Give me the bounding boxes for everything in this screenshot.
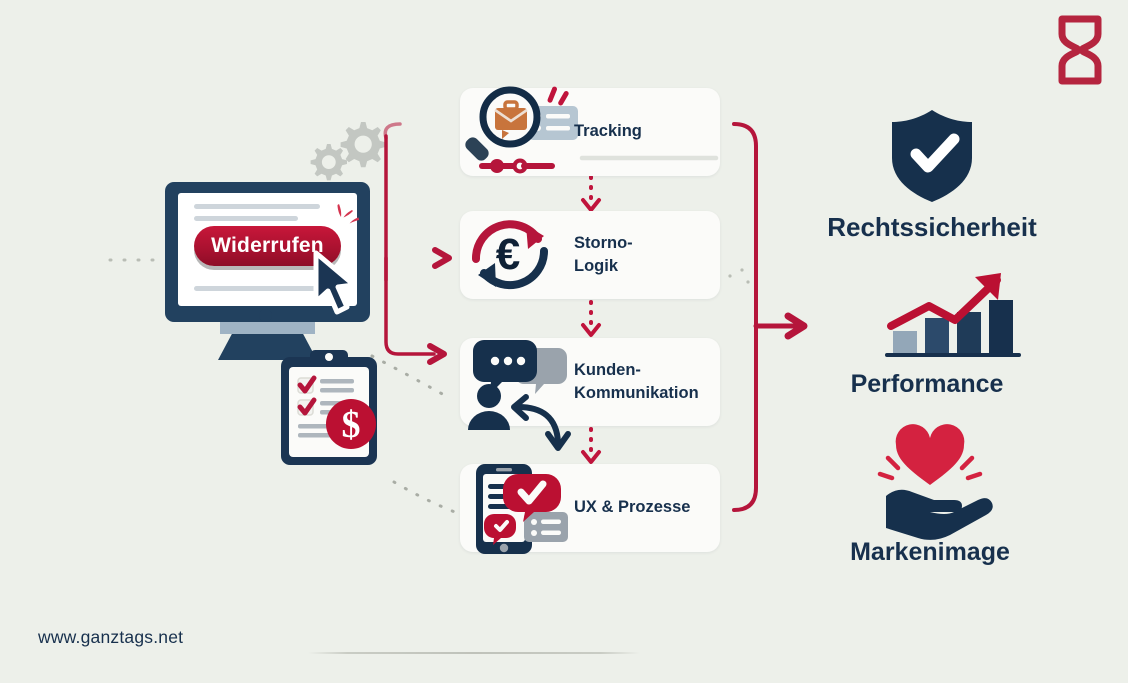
hourglass-logo bbox=[1052, 14, 1108, 86]
card-label-tracking: Tracking bbox=[574, 88, 720, 176]
card-label-line2: Kommunikation bbox=[574, 382, 699, 405]
monitor-power-dot bbox=[259, 309, 272, 322]
card-label-kunden-kommunikation: Kunden- Kommunikation bbox=[574, 338, 720, 426]
card-label-storno-logik: Storno- Logik bbox=[574, 211, 720, 299]
pipeline-card-storno-logik[interactable]: € Storno- Logik bbox=[460, 211, 720, 299]
outcome-markenimage: Markenimage bbox=[780, 430, 1080, 567]
shield-check-icon bbox=[782, 104, 1082, 204]
screen-text-line bbox=[194, 216, 298, 221]
dotted-decor-lower bbox=[392, 480, 464, 520]
outcome-performance: Performance bbox=[777, 268, 1077, 399]
growth-bar-chart-icon bbox=[777, 268, 1077, 358]
outcome-label-markenimage: Markenimage bbox=[780, 538, 1080, 567]
card-label-line2: Logik bbox=[574, 255, 633, 278]
card-label-line1: Storno- bbox=[574, 232, 633, 255]
card-label-ux-prozesse: UX & Prozesse bbox=[574, 464, 720, 552]
widerrufen-button-label: Widerrufen bbox=[211, 234, 324, 258]
card-label-line1: Kunden- bbox=[574, 359, 699, 382]
monitor-neck bbox=[220, 322, 315, 334]
infographic-canvas: Widerrufen bbox=[0, 0, 1128, 683]
tracking-track-rest bbox=[580, 154, 720, 162]
outcome-rechtssicherheit: Rechtssicherheit bbox=[782, 104, 1082, 243]
flow-arrow-down bbox=[578, 428, 604, 466]
pipeline-card-kunden-kommunikation[interactable]: Kunden- Kommunikation bbox=[460, 338, 720, 426]
flow-arrow-down bbox=[578, 301, 604, 339]
euro-refresh-icon: € bbox=[462, 207, 576, 303]
screen-text-line bbox=[194, 204, 320, 209]
flow-arrow-down bbox=[578, 176, 604, 214]
pipeline-card-tracking[interactable]: Tracking bbox=[460, 88, 720, 176]
magnifier-briefcase-icon bbox=[462, 84, 576, 180]
pipeline-card-ux-prozesse[interactable]: UX & Prozesse bbox=[460, 464, 720, 552]
dotted-decor-left bbox=[108, 250, 168, 270]
feedback-loop-arrow bbox=[500, 388, 580, 464]
svg-text:€: € bbox=[496, 230, 520, 279]
site-url[interactable]: www.ganztags.net bbox=[38, 627, 183, 648]
outcome-label-performance: Performance bbox=[777, 370, 1077, 399]
outcome-label-rechtssicherheit: Rechtssicherheit bbox=[782, 212, 1082, 243]
hand-heart-icon bbox=[780, 430, 1080, 530]
footer-divider bbox=[308, 652, 640, 654]
smartphone-check-icon bbox=[462, 460, 576, 556]
